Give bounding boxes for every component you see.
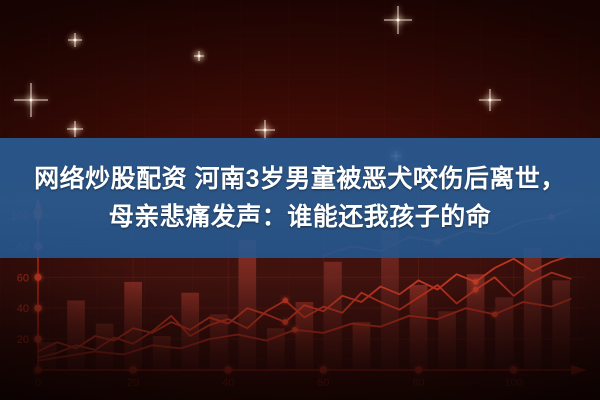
headline-banner: 网络炒股配资 河南3岁男童被恶犬咬伤后离世， 母亲悲痛发声：谁能还我孩子的命 [0,138,600,258]
headline-line-2: 母亲悲痛发声：谁能还我孩子的命 [109,199,492,235]
headline-line-1: 网络炒股配资 河南3岁男童被恶犬咬伤后离世， [34,161,566,197]
thumbnail-image: 02040608010020406080100 网络炒股配资 河南3岁男童被恶犬… [0,0,600,400]
